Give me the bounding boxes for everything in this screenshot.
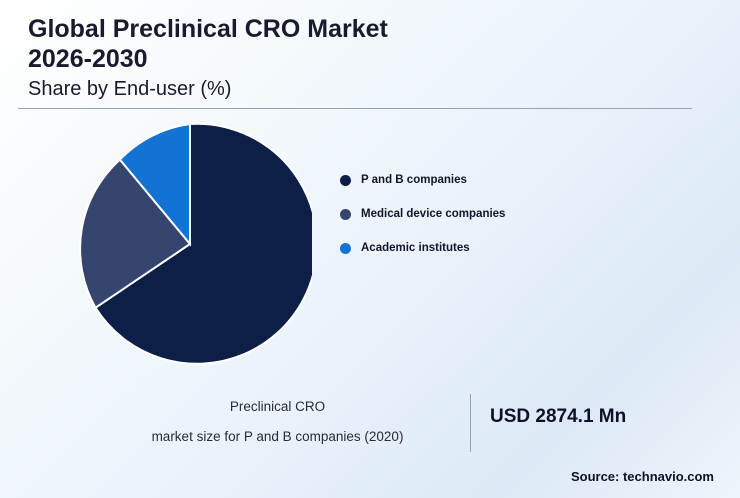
callout-block: Preclinical CRO market size for P and B … [100,392,700,454]
page-subtitle: Share by End-user (%) [28,77,688,101]
pie-chart [68,122,312,366]
callout-description-line1: Preclinical CRO [100,392,455,422]
callout-description: Preclinical CRO market size for P and B … [100,392,455,452]
legend-item-medical-device: Medical device companies [340,206,600,222]
legend-item-label: Medical device companies [361,208,505,220]
legend-color-swatch-icon [340,175,351,186]
legend-item-p-and-b: P and B companies [340,172,600,188]
legend-color-swatch-icon [340,209,351,220]
title-divider [18,108,692,109]
page-title-line2: 2026-2030 [28,45,148,73]
callout-divider [470,394,471,452]
source-label: Source: technavio.com [571,469,714,484]
legend-item-label: P and B companies [361,174,467,186]
page-title: Global Preclinical CRO Market 2026-2030 [28,14,688,74]
pie-chart-svg [68,122,312,366]
legend-color-swatch-icon [340,243,351,254]
legend-item-label: Academic institutes [361,242,470,254]
legend: P and B companies Medical device compani… [340,172,600,274]
title-block: Global Preclinical CRO Market 2026-2030 … [28,14,688,101]
callout-value: USD 2874.1 Mn [490,406,626,428]
legend-item-academic: Academic institutes [340,240,600,256]
callout-description-line2: market size for P and B companies (2020) [100,422,455,452]
chart-page: Global Preclinical CRO Market 2026-2030 … [0,0,740,498]
page-title-line1: Global Preclinical CRO Market [28,15,388,43]
